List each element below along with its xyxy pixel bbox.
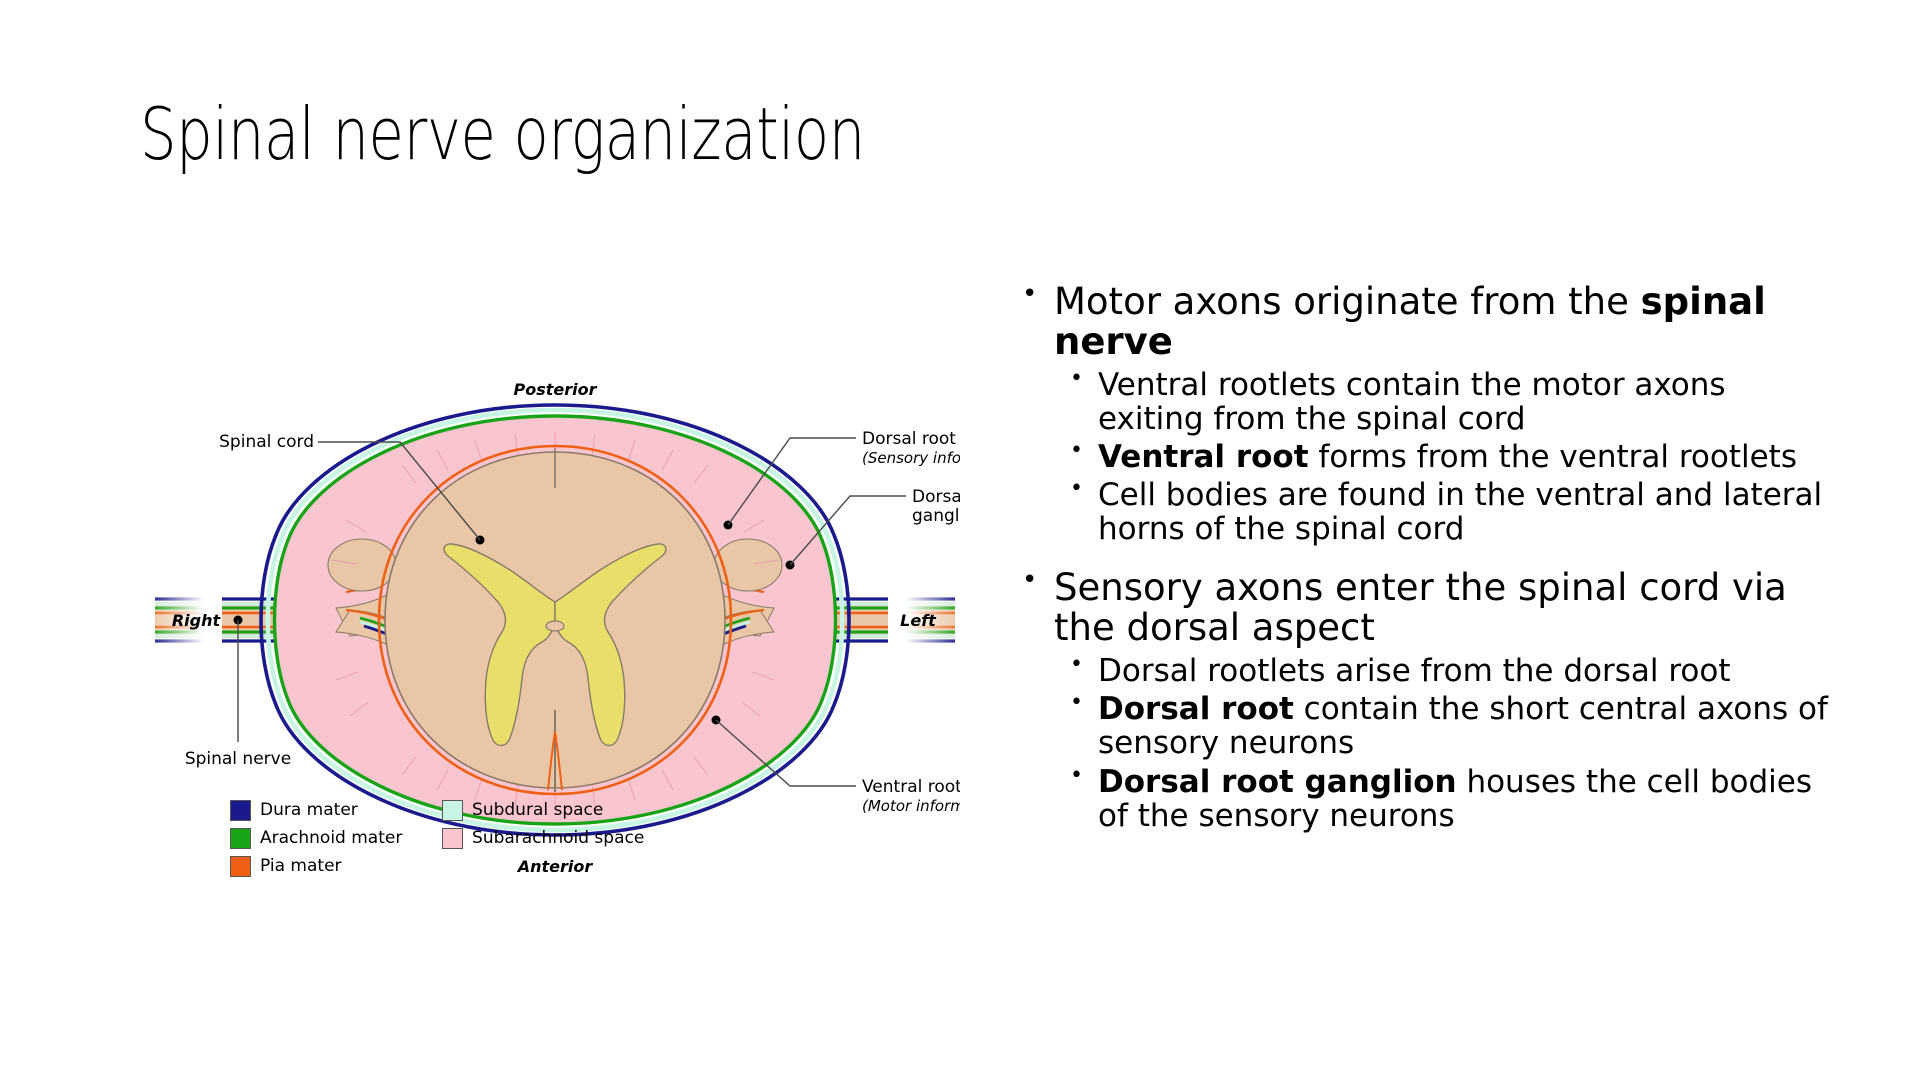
legend-item-subdural-space: Subdural space	[442, 800, 650, 821]
legend-swatch-arachnoid-mater	[230, 828, 251, 849]
bullet-cell-bodies: Cell bodies are found in the ventral and…	[1010, 478, 1840, 546]
bullet-text-prefix: Motor axons originate from the	[1054, 280, 1641, 323]
legend-swatch-subdural-space	[442, 800, 463, 821]
bullet-text-prefix: Dorsal rootlets arise from the dorsal ro…	[1098, 653, 1731, 689]
label-posterior: Posterior	[514, 380, 598, 399]
bullet-text-prefix: Cell bodies are found in the ventral and…	[1098, 477, 1822, 547]
bullet-ventral-rootlets: Ventral rootlets contain the motor axons…	[1010, 368, 1840, 436]
legend-item-dura-mater: Dura mater	[230, 800, 408, 821]
label-spinal-nerve: Spinal nerve	[185, 749, 291, 769]
legend-swatch-subarachnoid-space	[442, 828, 463, 849]
bullet-dorsal-root-ganglion: Dorsal root ganglion houses the cell bod…	[1010, 765, 1840, 833]
slide-body-text: Motor axons originate from the spinal ne…	[1010, 282, 1840, 837]
legend-item-subarachnoid-space: Subarachnoid space	[442, 828, 650, 849]
legend-label-pia-mater: Pia mater	[260, 858, 342, 875]
label-left: Left	[900, 611, 937, 630]
legend-item-arachnoid-mater: Arachnoid mater	[230, 828, 408, 849]
bullet-dorsal-rootlets: Dorsal rootlets arise from the dorsal ro…	[1010, 654, 1840, 688]
bullet-dorsal-root: Dorsal root contain the short central ax…	[1010, 692, 1840, 760]
label-dorsal-root-sub: (Sensory information)	[862, 449, 960, 467]
legend-label-dura-mater: Dura mater	[260, 802, 358, 819]
legend-label-subdural-space: Subdural space	[472, 802, 603, 819]
label-dorsal-root-ganglion-line1: Dorsal root	[912, 487, 960, 507]
label-spinal-cord: Spinal cord	[219, 432, 314, 452]
bullet-text-bold: Ventral root	[1098, 439, 1309, 475]
bullet-text-bold: Dorsal root ganglion	[1098, 764, 1457, 800]
legend-label-subarachnoid-space: Subarachnoid space	[472, 830, 644, 847]
legend-swatch-dura-mater	[230, 800, 251, 821]
label-dorsal-root-ganglion-line2: ganglion	[912, 506, 960, 526]
bullet-text-bold: Dorsal root	[1098, 691, 1294, 727]
bullet-text-suffix: forms from the ventral rootlets	[1309, 439, 1797, 475]
bullet-sensory-axons: Sensory axons enter the spinal cord via …	[1010, 568, 1840, 648]
bullet-motor-axons: Motor axons originate from the spinal ne…	[1010, 282, 1840, 362]
label-right: Right	[172, 611, 222, 630]
legend-swatch-pia-mater	[230, 856, 251, 877]
page-title: Spinal nerve organization	[140, 92, 865, 176]
bullet-text-prefix: Ventral rootlets contain the motor axons…	[1098, 367, 1726, 437]
legend-item-pia-mater: Pia mater	[230, 856, 408, 877]
bullet-ventral-root: Ventral root forms from the ventral root…	[1010, 440, 1840, 474]
label-ventral-root: Ventral root	[862, 777, 960, 797]
label-dorsal-root: Dorsal root	[862, 429, 956, 449]
diagram-legend: Dura mater Subdural space Arachnoid mate…	[230, 800, 650, 877]
label-ventral-root-sub: (Motor information)	[862, 797, 960, 815]
legend-label-arachnoid-mater: Arachnoid mater	[260, 830, 402, 847]
bullet-text-prefix: Sensory axons enter the spinal cord via …	[1054, 566, 1787, 649]
